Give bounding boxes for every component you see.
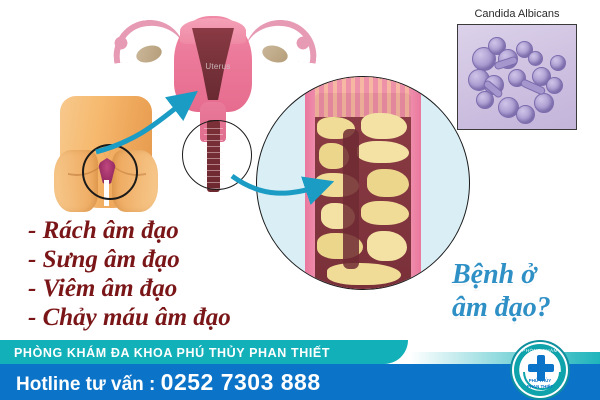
yeast-cell (550, 55, 566, 71)
hotline-label: Hotline tư vấn : (16, 374, 155, 395)
headline-line-1: Bệnh ở (452, 258, 598, 291)
hotline-number[interactable]: 0252 7303 888 (161, 369, 321, 395)
discharge-patch (361, 113, 407, 139)
discharge-patch (357, 141, 409, 163)
vaginal-canal-highlight-circle-icon (182, 120, 252, 190)
yeast-cell (546, 77, 563, 94)
banner-teal-gradient (410, 352, 600, 364)
discharge-patch (361, 201, 409, 225)
symptom-item: - Viêm âm đạo (28, 274, 348, 303)
right-fimbriae (292, 32, 314, 54)
yeast-cell (476, 91, 494, 109)
canal-rugae-top (315, 77, 411, 117)
clinic-name: PHÒNG KHÁM ĐA KHOA PHÚ THỦY PHAN THIẾT (14, 344, 374, 362)
candida-panel: Candida Albicans (446, 8, 588, 140)
discharge-patch (367, 169, 409, 197)
infographic-canvas: Uterus Candida Albicans (0, 0, 600, 400)
bottom-banner: PHÒNG KHÁM ĐA KHOA PHÚ THỦY PHAN THIẾT H… (0, 340, 600, 400)
left-fimbriae (110, 32, 132, 54)
yeast-cell (528, 51, 543, 66)
candida-title: Candida Albicans (446, 8, 588, 20)
symptom-item: - Chảy máu âm đạo (28, 303, 348, 332)
symptom-item: - Rách âm đạo (28, 216, 348, 245)
logo-bottom-text: PHÚ THỦY PHAN THIẾT (524, 378, 556, 389)
yeast-cell (534, 93, 554, 113)
symptom-list: - Rách âm đạo - Sưng âm đạo - Viêm âm đạ… (28, 216, 348, 332)
clinic-logo: PHÒNG KHÁM ĐA KHOA PHÚ THỦY PHAN THIẾT (512, 342, 568, 398)
candida-image-box (457, 24, 577, 130)
discharge-patch (367, 231, 407, 261)
medical-cross-icon (528, 364, 554, 372)
symptom-item: - Sưng âm đạo (28, 245, 348, 274)
headline-question: Bệnh ở âm đạo? (452, 258, 598, 324)
yeast-cell (516, 105, 535, 124)
uterus-label: Uterus (194, 62, 242, 71)
hotline-row: Hotline tư vấn : 0252 7303 888 (16, 368, 321, 396)
headline-line-2: âm đạo? (452, 291, 598, 324)
